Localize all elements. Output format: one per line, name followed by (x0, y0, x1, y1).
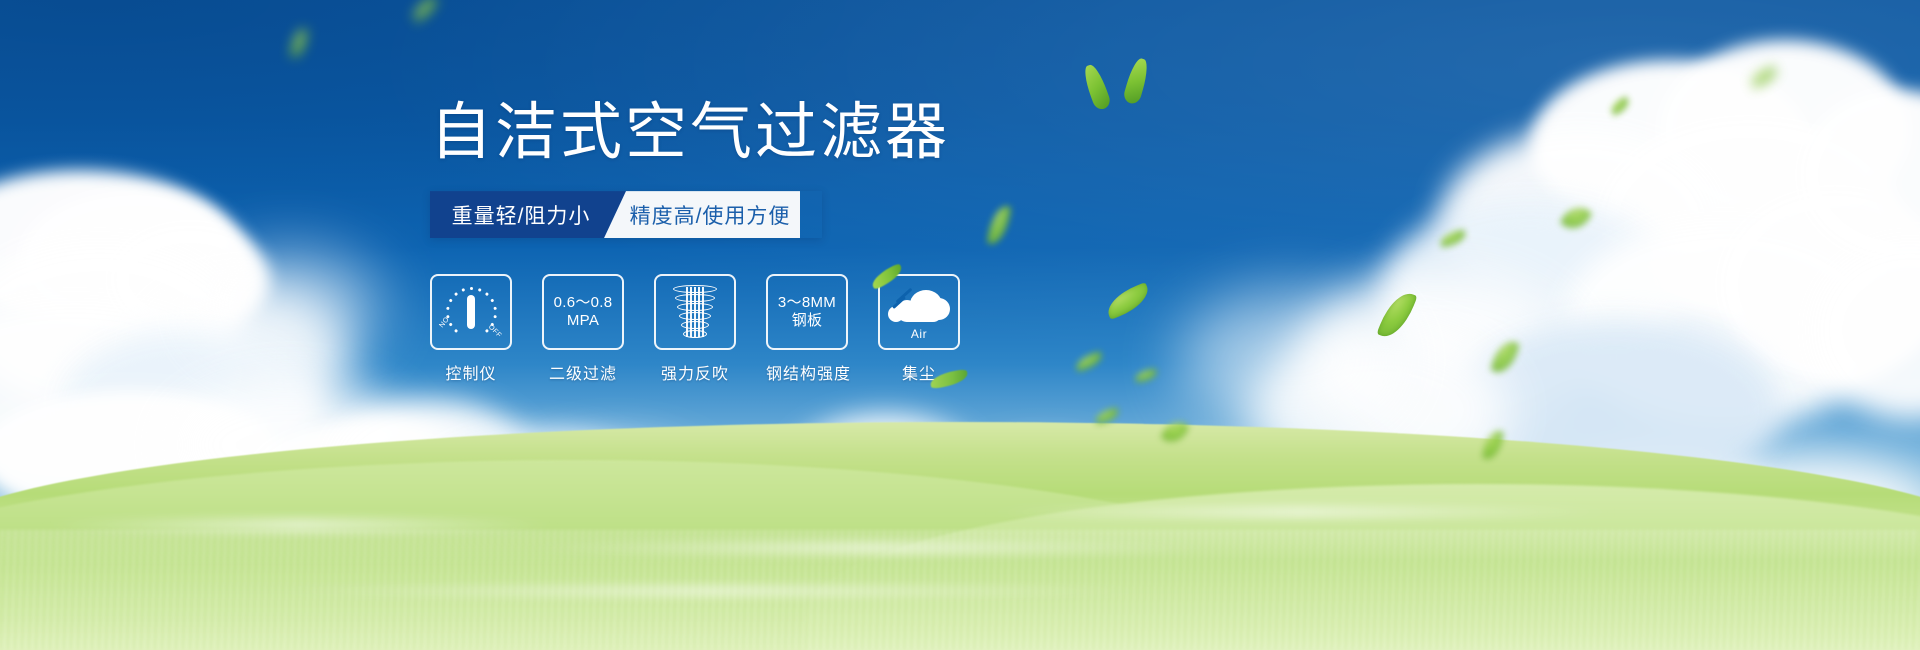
feature-icon-box: Air (878, 274, 960, 350)
coil-stems (686, 287, 704, 337)
feature-list: NO OFF 控制仪 0.6～0.8 MPA 二级过滤 (430, 274, 1150, 384)
feature-icon-box (654, 274, 736, 350)
feature-icon-box: NO OFF (430, 274, 512, 350)
steel-plate-text-icon: 3～8MM 钢板 (778, 294, 836, 329)
pressure-unit: MPA (554, 312, 613, 330)
subtitle-pill-right: 精度高/使用方便 (604, 191, 800, 238)
title-block: 自洁式空气过滤器 (430, 100, 1150, 165)
steel-thickness: 3～8MM (778, 294, 836, 312)
title-leaf-pair-icon (1086, 56, 1156, 112)
pressure-text-icon: 0.6～0.8 MPA (554, 294, 613, 329)
air-cloud-icon: Air (888, 284, 950, 340)
page-title: 自洁式空气过滤器 (430, 100, 1150, 165)
air-label: Air (888, 327, 950, 341)
feature-item-blowback: 强力反吹 (654, 274, 736, 384)
hero-banner: 自洁式空气过滤器 重量轻/阻力小 精度高/使用方便 (0, 0, 1920, 650)
feature-item-filtration: 0.6～0.8 MPA 二级过滤 (542, 274, 624, 384)
grass-streak (40, 518, 560, 532)
feature-label: 控制仪 (430, 360, 512, 384)
feature-label: 钢结构强度 (766, 360, 848, 384)
grass-streak (980, 506, 1620, 518)
feature-icon-box: 3～8MM 钢板 (766, 274, 848, 350)
feature-label: 二级过滤 (542, 360, 624, 384)
feature-item-control: NO OFF 控制仪 (430, 274, 512, 384)
grass-streak (260, 586, 1160, 596)
feature-label: 强力反吹 (654, 360, 736, 384)
steel-material: 钢板 (778, 312, 836, 330)
feature-item-steel: 3～8MM 钢板 钢结构强度 (766, 274, 848, 384)
pressure-value: 0.6～0.8 (554, 294, 613, 312)
subtitle-bar: 重量轻/阻力小 精度高/使用方便 (430, 191, 822, 238)
filter-coil-icon (669, 285, 721, 339)
banner-content: 自洁式空气过滤器 重量轻/阻力小 精度高/使用方便 (430, 100, 1150, 384)
feature-item-dust: Air 集尘 (878, 274, 960, 384)
feature-icon-box: 0.6～0.8 MPA (542, 274, 624, 350)
control-dial-icon: NO OFF (441, 286, 501, 338)
dial-needle (467, 295, 475, 329)
subtitle-pill-left: 重量轻/阻力小 (430, 191, 626, 238)
grass-streak (520, 542, 1220, 554)
